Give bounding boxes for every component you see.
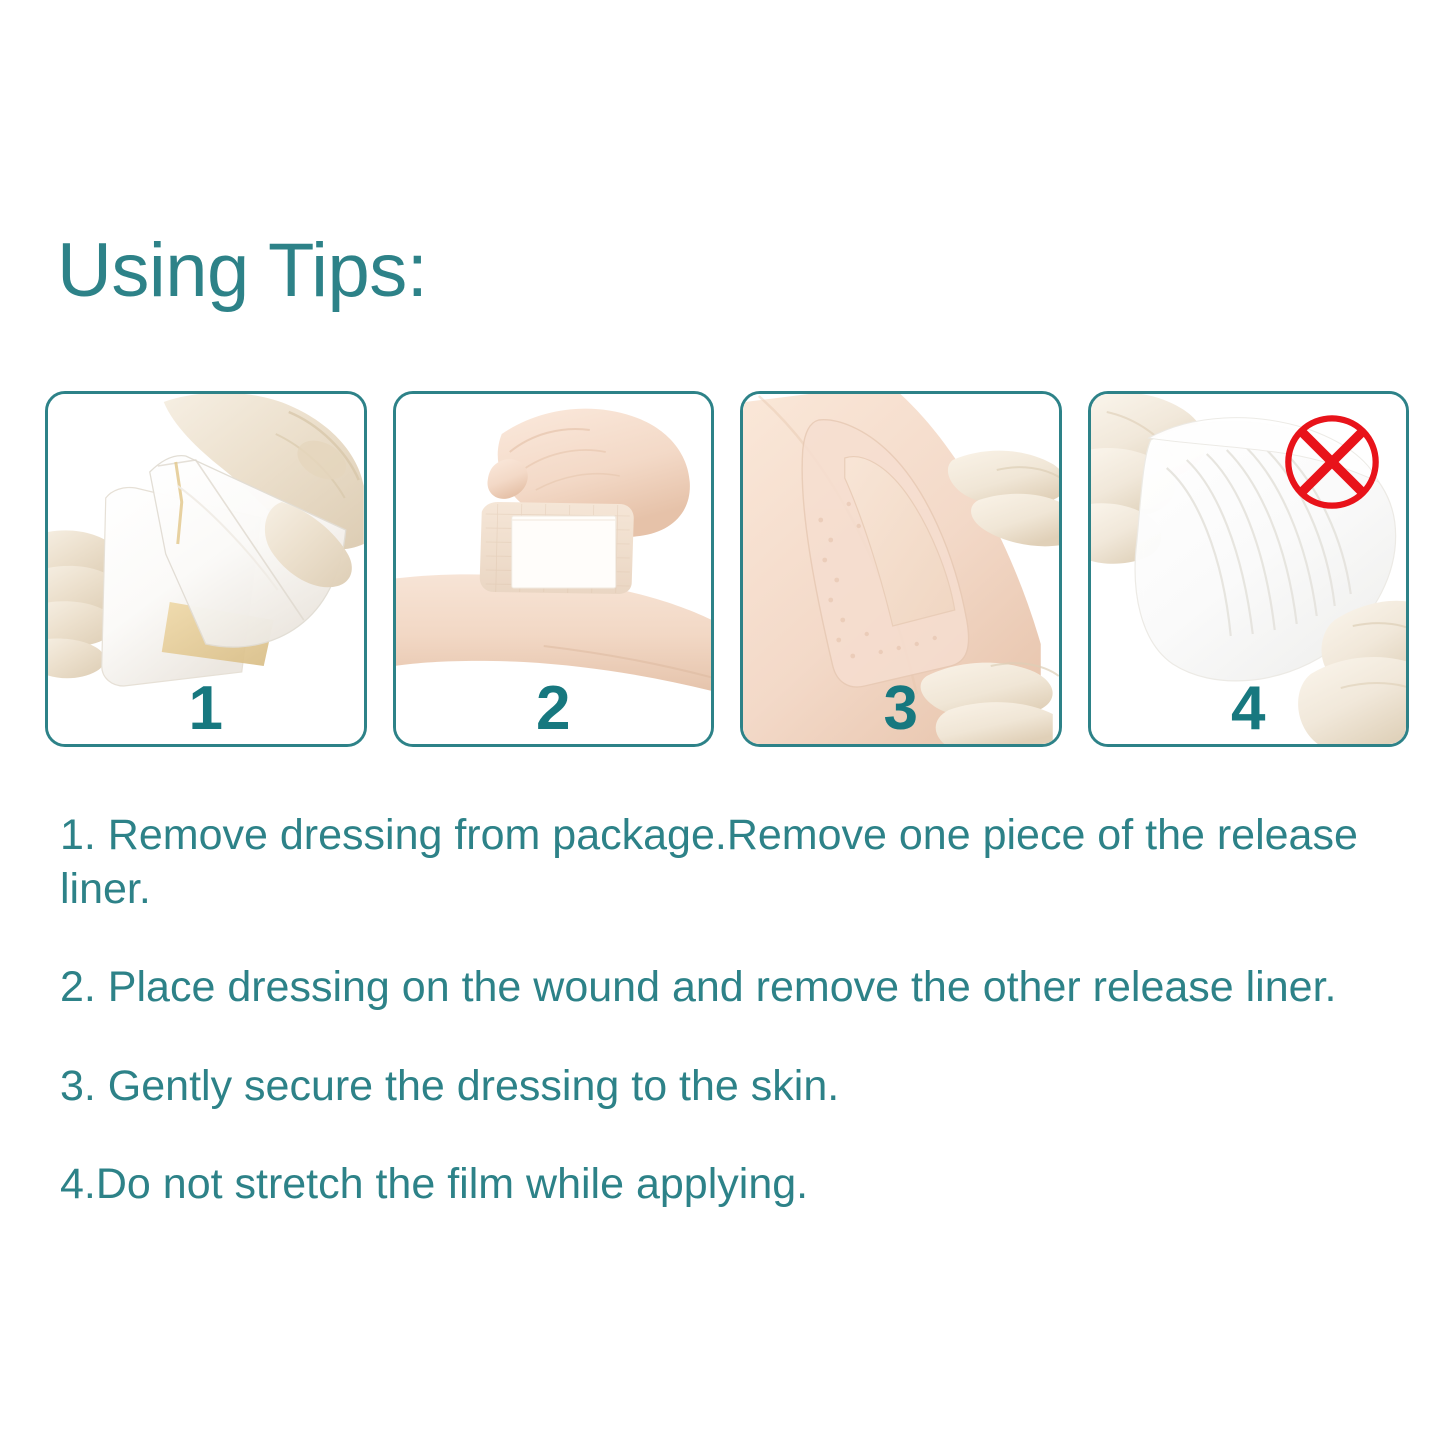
instruction-step-3: 3. Gently secure the dressing to the ski… — [60, 1059, 1370, 1113]
instruction-step-4: 4.Do not stretch the film while applying… — [60, 1157, 1370, 1211]
illustration-secure-dressing — [743, 394, 1059, 744]
step-panel-3: 3 — [740, 391, 1062, 747]
instruction-step-2: 2. Place dressing on the wound and remov… — [60, 960, 1370, 1014]
no-stretch-prohibition-icon — [1280, 410, 1384, 514]
instruction-list: 1. Remove dressing from package.Remove o… — [60, 808, 1370, 1211]
step-panel-1: 1 — [45, 391, 367, 747]
step-panel-4: 4 — [1088, 391, 1410, 747]
step-image-row: 1 — [45, 391, 1409, 747]
step-panel-2: 2 — [393, 391, 715, 747]
using-tips-infographic: Using Tips: — [0, 0, 1445, 1445]
instruction-step-1: 1. Remove dressing from package.Remove o… — [60, 808, 1370, 916]
illustration-peel-liner — [48, 394, 364, 744]
illustration-place-dressing — [396, 394, 712, 744]
page-title: Using Tips: — [57, 233, 427, 309]
